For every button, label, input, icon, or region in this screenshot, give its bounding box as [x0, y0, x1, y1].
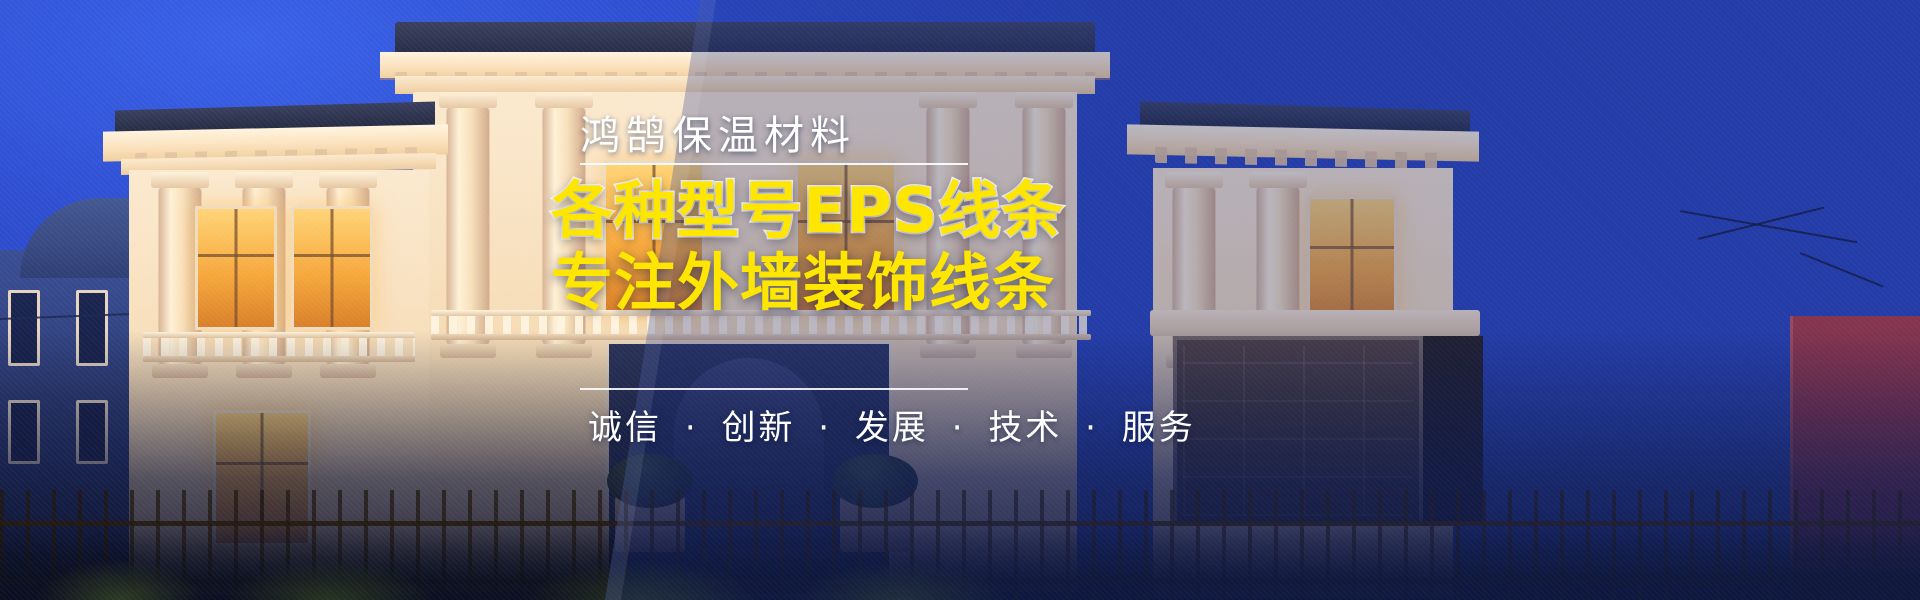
divider-bottom — [580, 388, 968, 390]
headline: 各种型号EPS线条 专注外墙装饰线条 — [551, 178, 1064, 316]
tagline-item: 创新 — [721, 408, 795, 448]
tagline-separator: · — [676, 408, 708, 448]
tagline-separator: · — [1076, 408, 1108, 448]
tagline-item: 服务 — [1122, 408, 1196, 448]
tagline-item: 诚信 — [588, 408, 662, 448]
tagline-item: 发展 — [855, 408, 929, 448]
tagline-item: 技术 — [988, 408, 1062, 448]
headline-line-1: 各种型号EPS线条 — [551, 178, 1064, 244]
headline-line-2: 专注外墙装饰线条 — [551, 250, 1064, 316]
brand-name: 鸿鹄保温材料 — [580, 103, 856, 161]
tagline: 诚信 · 创新 · 发展 · 技术 · 服务 — [588, 400, 1196, 449]
tagline-separator: · — [809, 408, 841, 448]
banner-content: 鸿鹄保温材料 各种型号EPS线条 专注外墙装饰线条 诚信 · 创新 · 发展 ·… — [0, 0, 1920, 600]
hero-banner: 鸿鹄保温材料 各种型号EPS线条 专注外墙装饰线条 诚信 · 创新 · 发展 ·… — [0, 0, 1920, 600]
tagline-separator: · — [943, 408, 975, 448]
divider-top — [580, 163, 968, 165]
